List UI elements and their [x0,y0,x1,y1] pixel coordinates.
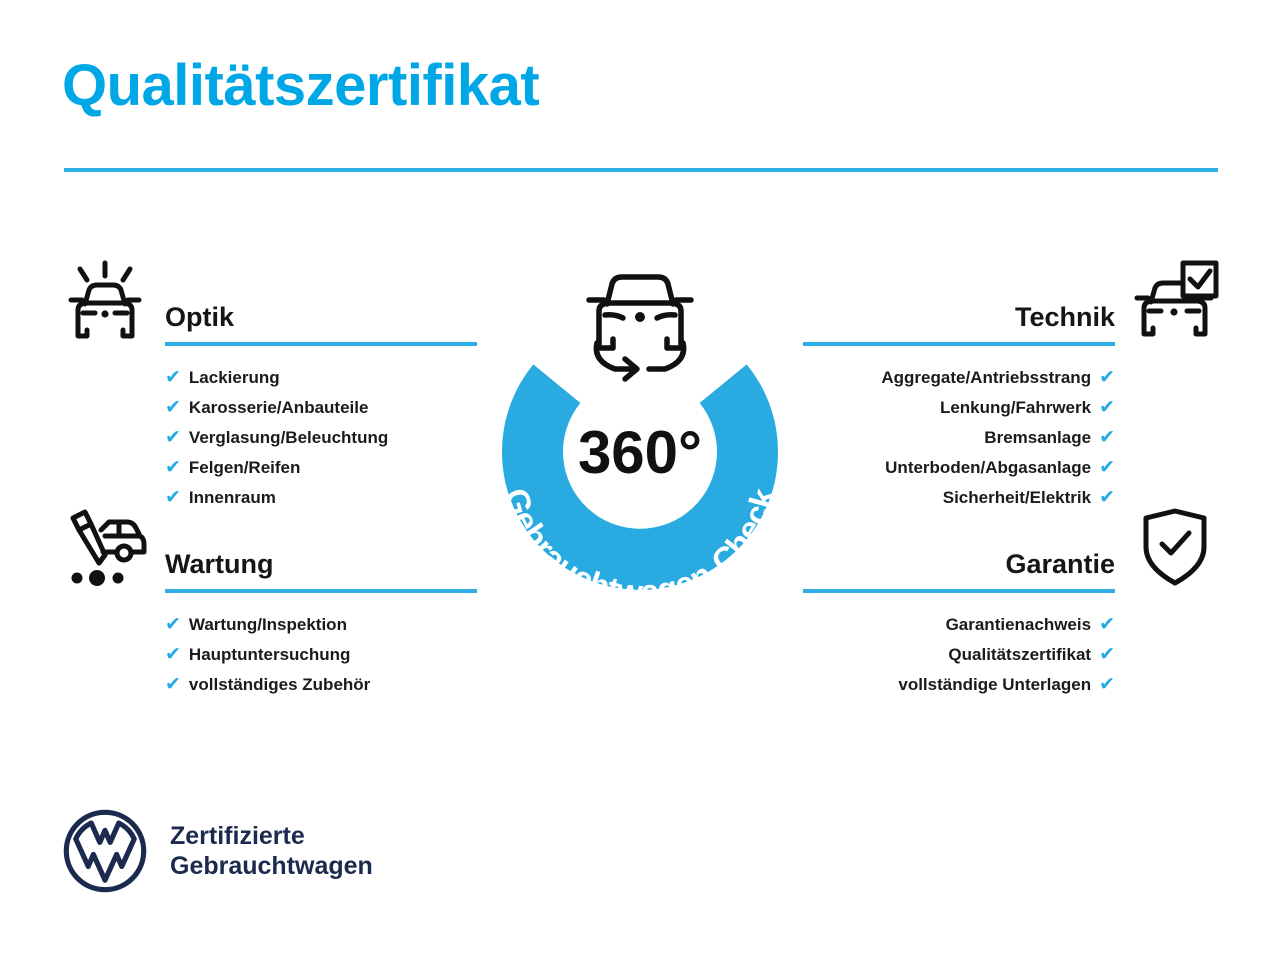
list-item-label: Aggregate/Antriebsstrang [881,363,1091,393]
certificate-page: Qualitätszertifikat [0,0,1280,960]
list-item-label: Karosserie/Anbauteile [189,393,369,423]
section-underline [165,589,477,593]
section-garantie: Garantie Garantienachweis ✔ Qualitätszer… [765,505,1225,700]
optik-checklist: ✔ Lackierung ✔ Karosserie/Anbauteile ✔ V… [55,363,515,513]
list-item: Unterboden/Abgasanlage ✔ [765,453,1225,483]
list-item-label: vollständiges Zubehör [189,670,370,700]
list-item: ✔ Hauptuntersuchung [55,640,515,670]
list-item-label: Lenkung/Fahrwerk [940,393,1091,423]
badge-center-text: 360° [578,419,702,486]
list-item-label: Qualitätszertifikat [948,640,1091,670]
list-item-label: Lackierung [189,363,280,393]
section-wartung-titleblock: Wartung [165,550,477,593]
list-item: ✔ Lackierung [55,363,515,393]
list-item: Aggregate/Antriebsstrang ✔ [765,363,1225,393]
section-title: Optik [165,303,477,342]
section-title: Garantie [803,550,1115,589]
list-item: ✔ Felgen/Reifen [55,453,515,483]
vw-certified-label: Zertifizierte Gebrauchtwagen [170,821,373,882]
list-item: Qualitätszertifikat ✔ [765,640,1225,670]
list-item-label: vollständige Unterlagen [898,670,1091,700]
check-icon: ✔ [165,640,181,670]
section-title: Wartung [165,550,477,589]
list-item-label: Bremsanlage [984,423,1091,453]
car-front-shine-icon [57,258,153,342]
technik-checklist: Aggregate/Antriebsstrang ✔ Lenkung/Fahrw… [765,363,1225,513]
check-icon: ✔ [1099,423,1115,453]
section-technik-header: Technik [765,258,1225,346]
list-item-label: Unterboden/Abgasanlage [885,453,1091,483]
section-underline [803,342,1115,346]
list-item: ✔ Verglasung/Beleuchtung [55,423,515,453]
check-icon: ✔ [1099,670,1115,700]
list-item: Lenkung/Fahrwerk ✔ [765,393,1225,423]
list-item: ✔ Wartung/Inspektion [55,610,515,640]
section-garantie-header: Garantie [765,505,1225,593]
list-item: Bremsanlage ✔ [765,423,1225,453]
list-item: Garantienachweis ✔ [765,610,1225,640]
section-wartung-header: Wartung [55,505,515,593]
check-icon: ✔ [165,453,181,483]
check-icon: ✔ [1099,610,1115,640]
car-pencil-service-icon [57,505,153,589]
list-item-label: Garantienachweis [946,610,1092,640]
check-icon: ✔ [165,610,181,640]
vw-logo [62,808,148,894]
section-underline [165,342,477,346]
section-optik: Optik ✔ Lackierung ✔ Karosserie/Anbautei… [55,258,515,513]
check-icon: ✔ [1099,640,1115,670]
list-item: ✔ vollständiges Zubehör [55,670,515,700]
check-icon: ✔ [165,423,181,453]
check-icon: ✔ [165,393,181,423]
car-rotate-360-icon [589,277,691,379]
list-item-label: Verglasung/Beleuchtung [189,423,388,453]
car-front-checkbox-icon [1127,258,1223,342]
list-item: ✔ Karosserie/Anbauteile [55,393,515,423]
section-title: Technik [803,303,1115,342]
list-item-label: Felgen/Reifen [189,453,300,483]
check-icon: ✔ [1099,363,1115,393]
garantie-checklist: Garantienachweis ✔ Qualitätszertifikat ✔… [765,610,1225,700]
check-icon: ✔ [165,670,181,700]
section-technik: Technik Aggregate/Antriebsstrang ✔ Lenku… [765,258,1225,513]
shield-check-icon [1127,505,1223,589]
section-garantie-titleblock: Garantie [803,550,1115,593]
page-title: Qualitätszertifikat [62,56,539,117]
section-technik-titleblock: Technik [803,303,1115,346]
section-wartung: Wartung ✔ Wartung/Inspektion ✔ Hauptunte… [55,505,515,700]
check-icon: ✔ [165,363,181,393]
section-optik-titleblock: Optik [165,303,477,346]
vw-certified-lockup: Zertifizierte Gebrauchtwagen [62,808,373,894]
wartung-checklist: ✔ Wartung/Inspektion ✔ Hauptuntersuchung… [55,610,515,700]
check-icon: ✔ [1099,393,1115,423]
list-item-label: Wartung/Inspektion [189,610,347,640]
header-divider [64,168,1218,172]
section-underline [803,589,1115,593]
list-item-label: Hauptuntersuchung [189,640,351,670]
check-icon: ✔ [1099,453,1115,483]
section-optik-header: Optik [55,258,515,346]
list-item: vollständige Unterlagen ✔ [765,670,1225,700]
gebrauchtwagen-check-badge: Gebrauchtwagen-Check 360° [455,243,825,633]
